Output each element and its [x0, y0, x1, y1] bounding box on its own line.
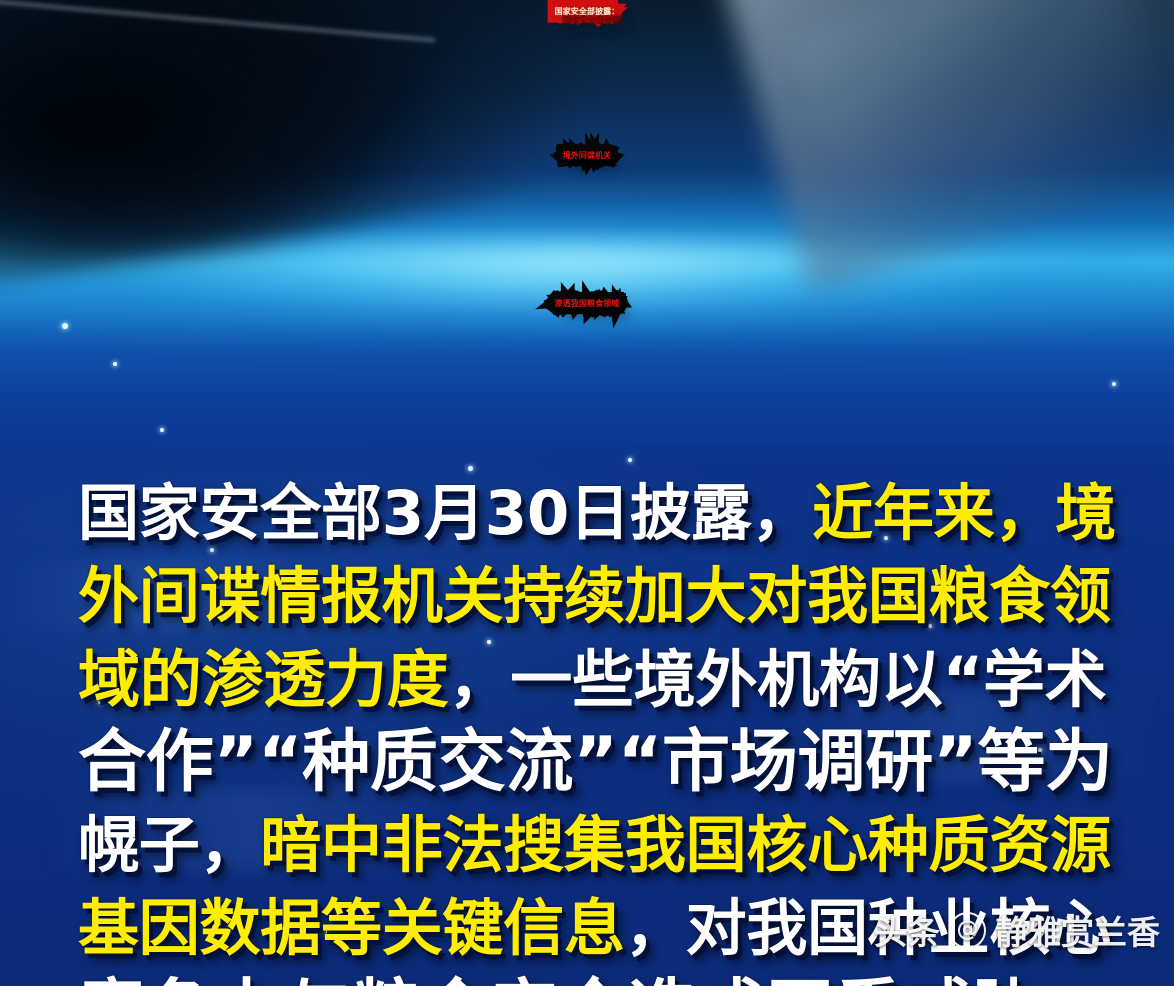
watermark-platform: 头条 [874, 906, 940, 954]
watermark-author: 静雅赏兰香 [995, 906, 1160, 954]
body-navy-wash [0, 446, 1174, 986]
watermark: 头条 @ 静雅赏兰香 [874, 906, 1160, 954]
poster-image: 国家安全部披露： 境外间谍机关 渗透我国粮食领域 国家安全部3月30日披露，近年… [0, 0, 1174, 986]
at-icon: @ [949, 912, 986, 949]
